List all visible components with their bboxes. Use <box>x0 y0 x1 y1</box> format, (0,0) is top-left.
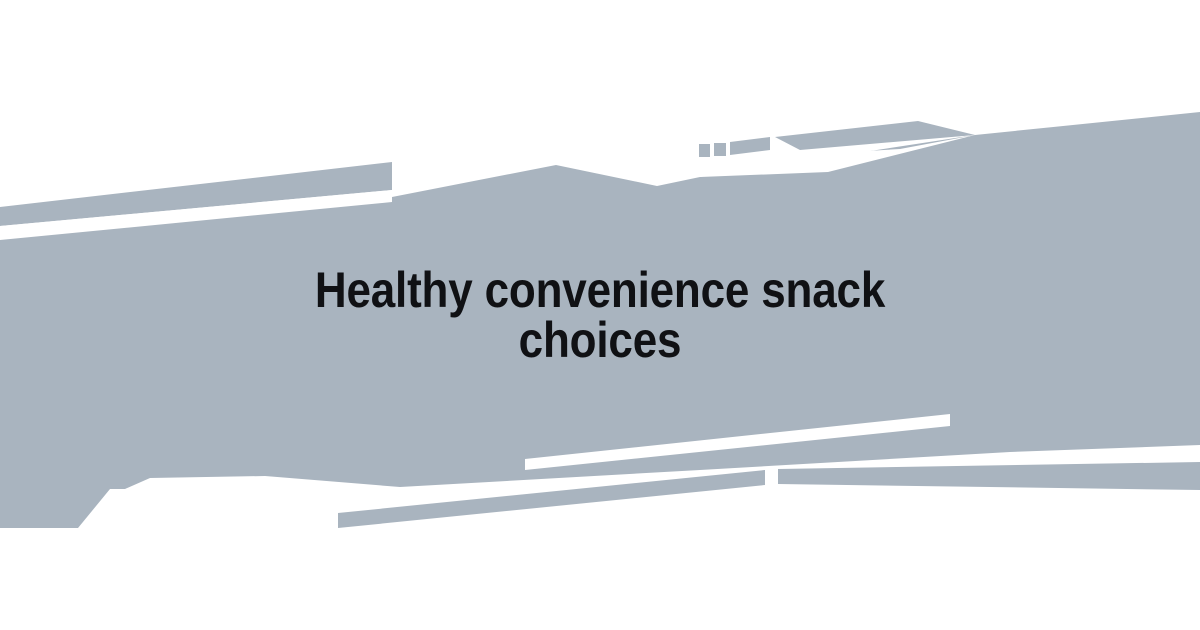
detached-bar-right <box>778 462 1200 490</box>
dash-mark-3 <box>730 137 770 155</box>
banner-card: Healthy convenience snack choices <box>0 0 1200 630</box>
angular-ribbon-graphic <box>0 0 1200 630</box>
dash-mark-1 <box>699 144 710 157</box>
dash-mark-2 <box>714 143 726 156</box>
